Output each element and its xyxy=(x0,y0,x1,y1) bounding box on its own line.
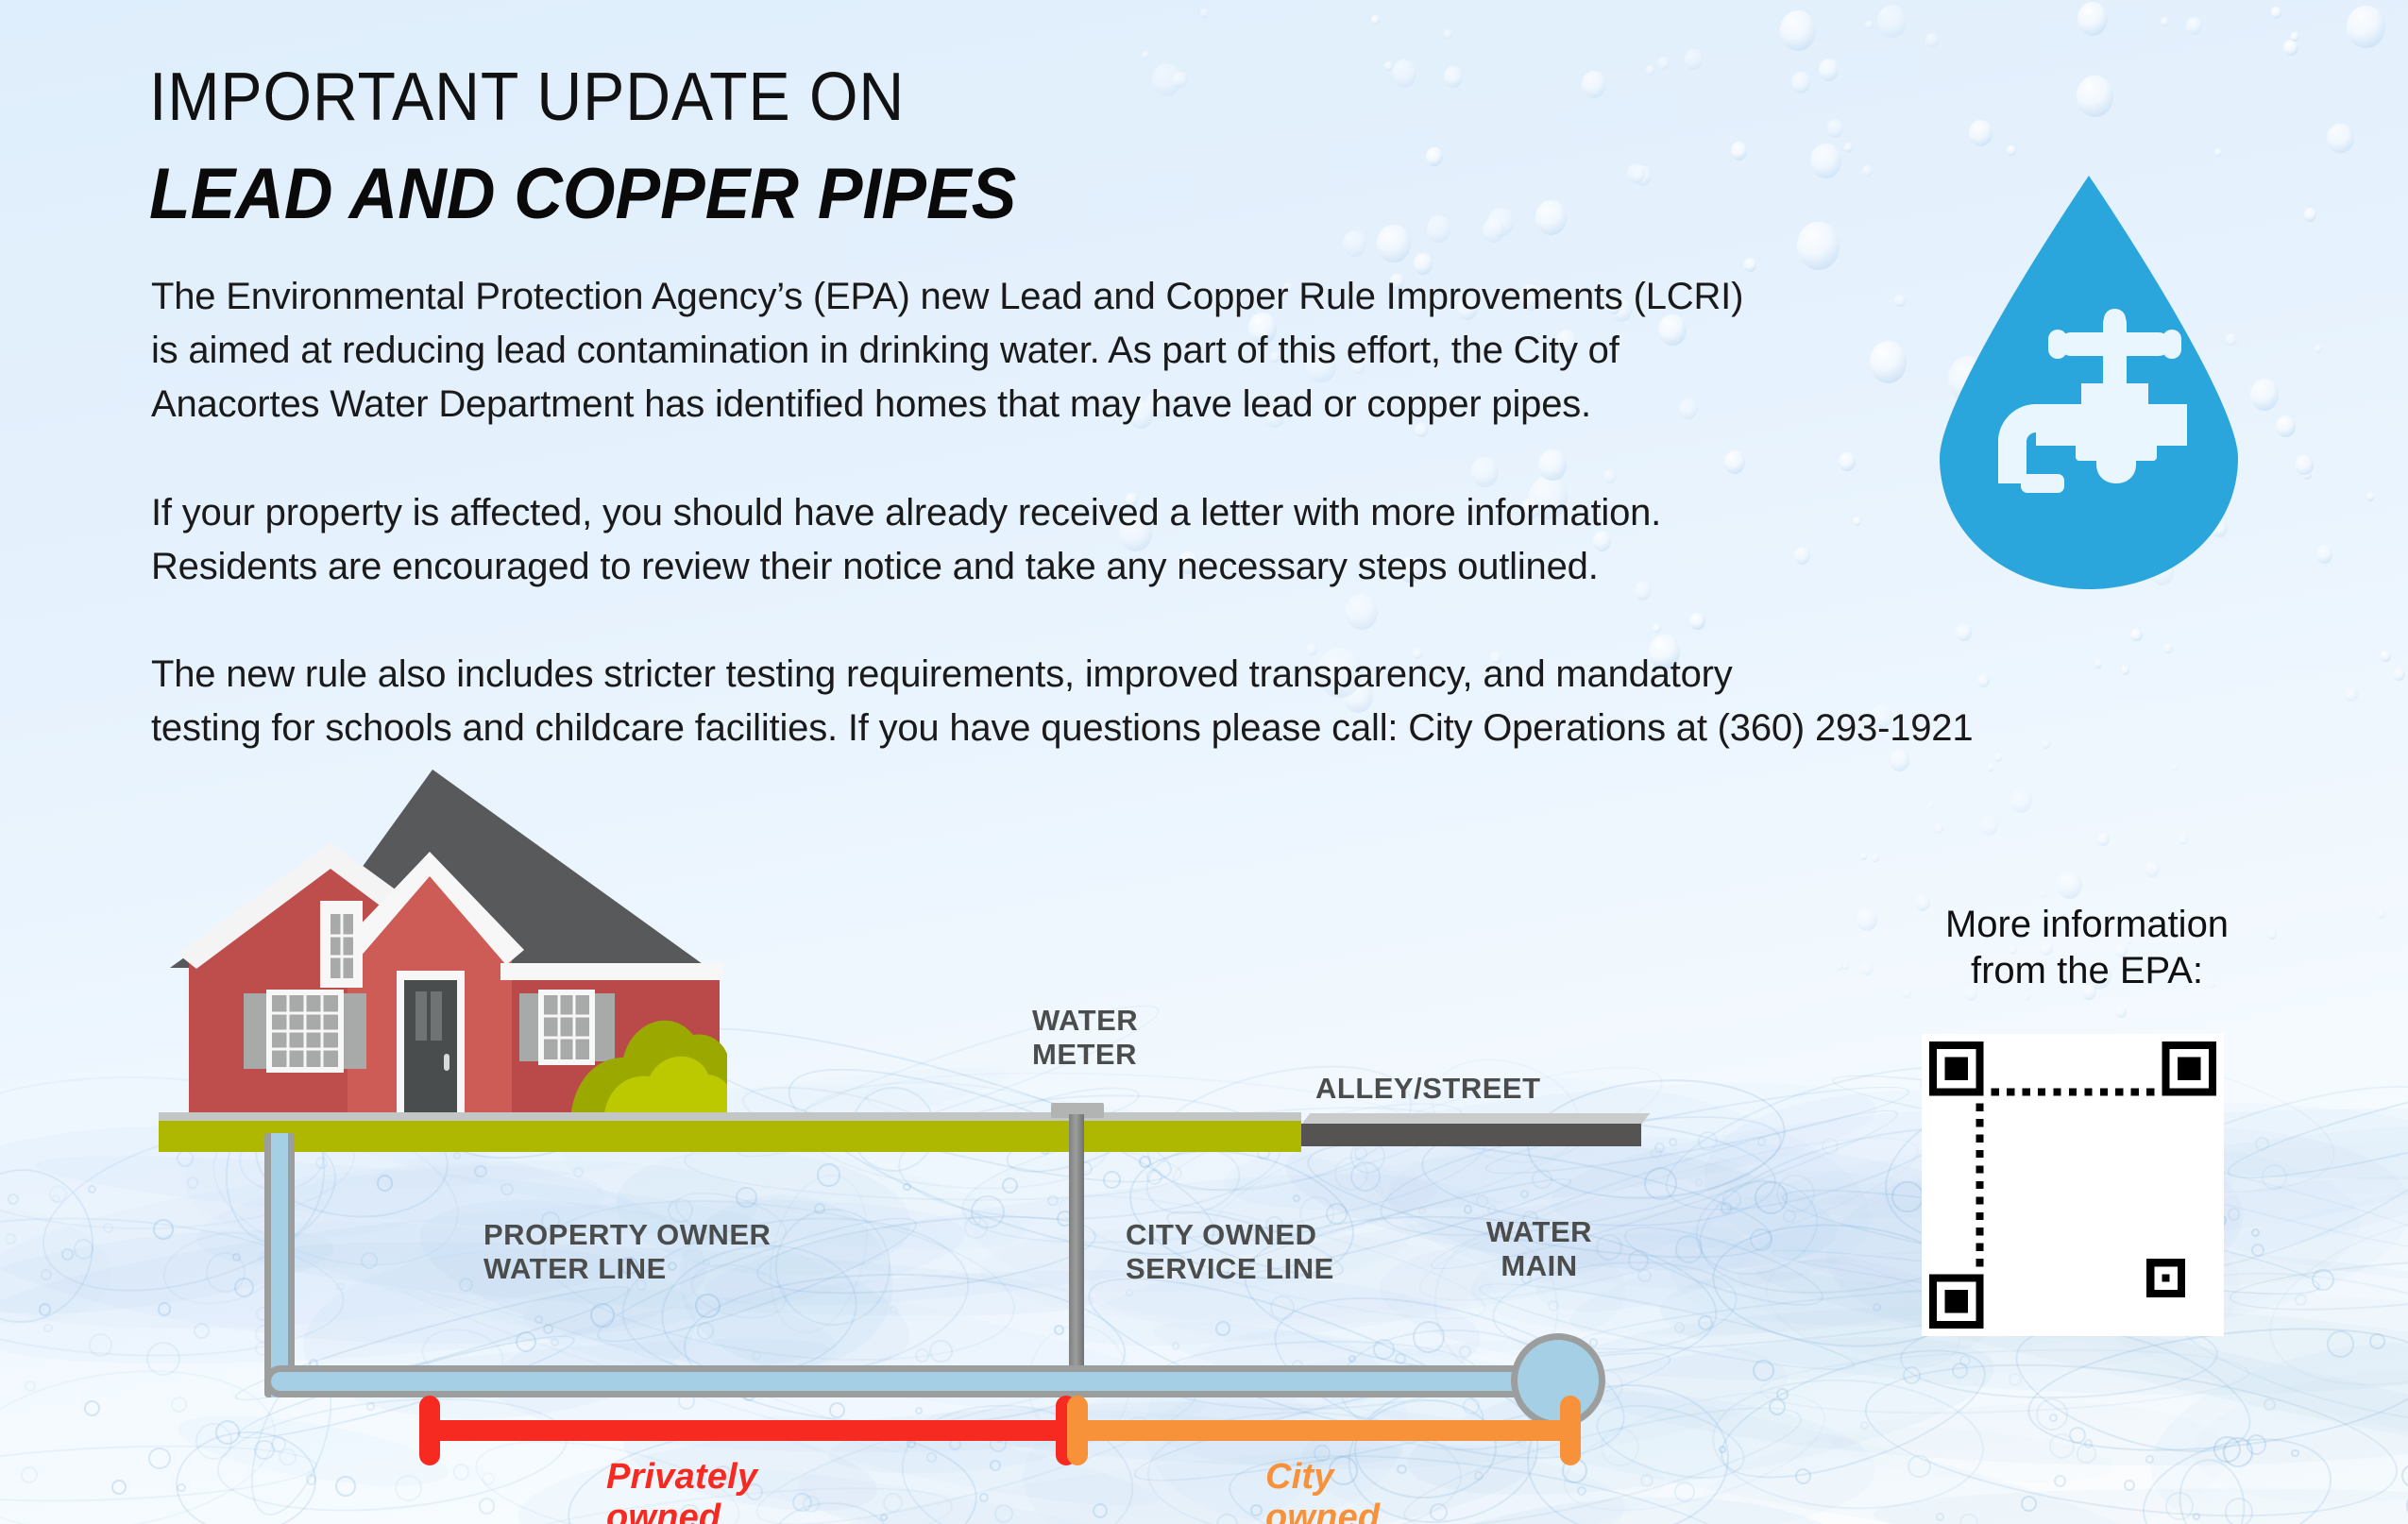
bubble xyxy=(2250,379,2279,411)
alley-street-bar xyxy=(1301,1124,1641,1146)
bubble xyxy=(2295,455,2313,476)
bubble xyxy=(1657,57,1670,70)
bubble xyxy=(2345,687,2358,703)
legend-label-city-owned: City owned xyxy=(1265,1457,1380,1524)
water-droplet xyxy=(2312,1269,2333,1291)
pipe-vertical xyxy=(271,1133,288,1397)
bubble xyxy=(2171,762,2179,770)
bubble xyxy=(1744,258,1756,272)
bubble xyxy=(2094,659,2103,669)
water-droplet xyxy=(2124,1480,2135,1491)
water-droplet xyxy=(1891,1181,1923,1212)
bubble xyxy=(2161,17,2169,26)
water-droplet xyxy=(2021,1496,2037,1512)
water-droplet xyxy=(1750,1228,1772,1251)
bubble xyxy=(1444,29,1452,39)
water-main-pipe xyxy=(1518,1340,1599,1421)
bubble xyxy=(2276,415,2296,437)
water-droplet xyxy=(2049,1414,2058,1422)
water-droplet-faucet-icon xyxy=(1938,170,2240,595)
bubble xyxy=(1977,674,1990,687)
bubble xyxy=(1797,222,1840,270)
service-line-diagram: WATER METER ALLEY/STREET PROPERTY OWNER … xyxy=(0,755,1700,1511)
water-droplet xyxy=(1873,1303,1881,1312)
water-arc xyxy=(2172,1453,2251,1524)
bubble xyxy=(1969,120,1993,146)
water-droplet xyxy=(1776,1175,1814,1212)
water-droplet xyxy=(2193,1513,2201,1521)
water-meter-stem xyxy=(1069,1114,1084,1388)
water-droplet xyxy=(1952,1363,1968,1379)
bubble xyxy=(1894,295,1906,307)
body-paragraph-3: The new rule also includes stricter test… xyxy=(151,648,1973,755)
house-illustration xyxy=(161,765,727,1133)
bubble xyxy=(2366,492,2374,500)
water-droplet xyxy=(1822,1138,1839,1155)
water-droplet xyxy=(2069,1427,2086,1444)
water-droplet xyxy=(2247,1434,2266,1454)
water-wave xyxy=(1678,1375,2238,1524)
bubble xyxy=(2077,2,2108,36)
water-droplet xyxy=(2049,1433,2076,1460)
water-droplet xyxy=(2225,1498,2254,1524)
water-arc xyxy=(1758,1342,2250,1422)
bubble xyxy=(1842,963,1848,970)
water-droplet xyxy=(2327,1330,2354,1358)
bubble xyxy=(1839,452,1856,471)
bubble xyxy=(2214,148,2222,157)
water-droplet xyxy=(1860,1421,1869,1430)
water-droplet xyxy=(2295,1294,2308,1307)
bubble xyxy=(1860,853,1867,859)
water-droplet xyxy=(1959,1514,1977,1524)
water-droplet xyxy=(2264,1398,2276,1411)
water-droplet xyxy=(1755,1181,1789,1215)
more-info-caption: More information from the EPA: xyxy=(1851,902,2323,994)
bubble xyxy=(1819,59,1839,81)
water-droplet xyxy=(2228,1208,2240,1220)
bubble xyxy=(1844,143,1853,153)
bubble xyxy=(1535,200,1567,235)
qr-code-icon[interactable] xyxy=(1922,1034,2224,1336)
water-arc xyxy=(1709,1373,1987,1516)
water-droplet xyxy=(1795,1468,1811,1484)
bubble xyxy=(1810,144,1841,178)
water-droplet xyxy=(2223,1437,2253,1467)
bubble xyxy=(1538,449,1567,482)
water-droplet xyxy=(2165,1492,2194,1520)
bubble xyxy=(1685,49,1703,69)
legend-cap-right-orange xyxy=(1560,1396,1581,1465)
bubble xyxy=(2347,6,2384,48)
water-wave xyxy=(2187,1352,2408,1520)
water-arc xyxy=(1857,1339,2406,1524)
bubble xyxy=(1994,754,2003,763)
label-water-meter: WATER METER xyxy=(1032,1004,1136,1072)
bubble xyxy=(2381,651,2391,662)
water-arc xyxy=(2131,1421,2343,1524)
water-droplet xyxy=(1216,1514,1239,1524)
headline-line-1: IMPORTANT UPDATE ON xyxy=(149,59,905,136)
pipe-horizontal xyxy=(271,1372,1565,1391)
label-city-owned-line: CITY OWNED SERVICE LINE xyxy=(1126,1218,1334,1286)
water-droplet xyxy=(1903,1366,1922,1385)
bubble xyxy=(1444,66,1464,88)
bubble xyxy=(1471,457,1499,487)
bubble xyxy=(1928,802,1935,808)
bubble xyxy=(1853,516,1861,526)
water-wave xyxy=(1830,1418,2117,1492)
bubble xyxy=(1689,613,1704,630)
legend-bar-orange xyxy=(1075,1420,1575,1441)
bubble xyxy=(1862,165,1873,177)
water-droplet xyxy=(1698,1131,1718,1151)
bubble xyxy=(2040,890,2045,897)
bubble xyxy=(1346,594,1378,630)
bubble xyxy=(1483,218,1504,243)
water-droplet xyxy=(2369,1333,2385,1349)
bubble xyxy=(1627,163,1645,183)
water-droplet xyxy=(2077,1444,2095,1463)
water-droplet xyxy=(2084,1439,2093,1448)
water-droplet xyxy=(1722,1190,1741,1209)
bubble xyxy=(2057,871,2082,899)
water-wave xyxy=(2136,1314,2408,1524)
bubble xyxy=(1980,815,1998,835)
bubble xyxy=(2121,666,2129,675)
water-droplet xyxy=(2255,1137,2269,1151)
bubble xyxy=(1865,21,1873,29)
water-droplet xyxy=(1769,1398,1786,1415)
bubble xyxy=(2304,208,2317,222)
bubble xyxy=(2115,1006,2127,1018)
bubble xyxy=(2186,17,2202,35)
bubble xyxy=(1653,624,1660,633)
bubble xyxy=(1988,764,1994,770)
bubble xyxy=(2291,32,2299,42)
water-droplet xyxy=(2251,1244,2264,1257)
bubble xyxy=(1836,963,1842,971)
body-paragraph-2: If your property is affected, you should… xyxy=(151,486,1661,594)
bubble xyxy=(1646,65,1655,76)
label-property-owner-line: PROPERTY OWNER WATER LINE xyxy=(483,1218,771,1286)
water-droplet xyxy=(1698,1315,1713,1330)
bubble xyxy=(1870,341,1908,382)
bubble xyxy=(1934,823,1943,834)
water-droplet xyxy=(1719,1446,1726,1453)
poster-canvas: IMPORTANT UPDATE ON LEAD AND COPPER PIPE… xyxy=(0,0,2408,1524)
water-arc xyxy=(2221,1044,2408,1197)
bubble xyxy=(2315,345,2322,353)
water-droplet xyxy=(2291,1449,2299,1458)
bubble xyxy=(1780,10,1817,51)
bubble xyxy=(2097,833,2110,847)
water-droplet xyxy=(1908,1455,1931,1479)
bubble xyxy=(1731,142,1748,161)
water-droplet xyxy=(880,1514,888,1521)
bubble xyxy=(1384,61,1392,70)
bubble xyxy=(1392,59,1416,88)
bubble xyxy=(1956,624,1971,641)
water-droplet xyxy=(1783,1210,1796,1223)
bubble xyxy=(1827,119,1843,137)
bubble xyxy=(1872,854,1879,862)
water-arc xyxy=(1706,1324,2001,1505)
water-wave xyxy=(1874,1480,2408,1524)
water-droplet xyxy=(1721,1202,1733,1214)
bubble xyxy=(1724,450,1745,474)
bubble xyxy=(2327,124,2353,154)
water-droplet xyxy=(1753,1360,1774,1381)
water-droplet xyxy=(2262,1164,2287,1190)
bubble xyxy=(2130,629,2142,642)
water-droplet xyxy=(1776,1388,1789,1400)
water-droplet xyxy=(1936,1513,1944,1521)
water-droplet xyxy=(2145,1455,2154,1464)
water-droplet xyxy=(2009,1373,2022,1386)
water-droplet xyxy=(1757,1137,1767,1146)
bubble xyxy=(2393,668,2405,681)
bubble xyxy=(1794,547,1810,565)
lawn-strip xyxy=(159,1121,1301,1152)
bubble xyxy=(2010,788,2033,813)
bubble xyxy=(1925,33,1939,47)
bubble xyxy=(2178,833,2189,845)
water-droplet xyxy=(2036,1398,2068,1431)
bubble xyxy=(1200,8,1209,18)
bubble xyxy=(2145,861,2160,876)
water-arc xyxy=(2251,1183,2408,1415)
water-arc xyxy=(2228,1251,2408,1320)
label-alley-street: ALLEY/STREET xyxy=(1315,1072,1541,1106)
headline-line-2: LEAD AND COPPER PIPES xyxy=(149,153,1016,235)
water-droplet xyxy=(2251,1228,2260,1237)
water-droplet xyxy=(2054,1475,2066,1487)
water-arc xyxy=(1686,1167,1827,1287)
bubble xyxy=(1877,5,1907,38)
bubble xyxy=(1426,147,1443,166)
bubble xyxy=(1173,72,1187,88)
bubble xyxy=(2042,739,2050,749)
bubble xyxy=(2271,7,2282,19)
bubble xyxy=(1343,230,1366,256)
bubble xyxy=(2283,40,2298,56)
legend-bar-red xyxy=(427,1420,1069,1441)
bubble xyxy=(2377,909,2385,919)
bubble xyxy=(2316,545,2333,564)
legend-label-privately-owned: Privately owned xyxy=(606,1457,757,1524)
bubble xyxy=(1142,51,1149,59)
bubble xyxy=(1427,215,1450,242)
bubble xyxy=(1791,72,1810,93)
bubble xyxy=(1371,15,1380,25)
bubble xyxy=(1603,469,1617,483)
bubble xyxy=(2007,145,2015,156)
bubble xyxy=(1377,225,1411,262)
label-water-main: WATER MAIN xyxy=(1478,1215,1601,1283)
body-paragraph-1: The Environmental Protection Agency’s (E… xyxy=(151,270,1743,432)
bubble xyxy=(2163,643,2173,653)
water-droplet xyxy=(2213,1436,2240,1463)
water-droplet xyxy=(1959,1355,1971,1366)
bubble xyxy=(2077,76,2113,116)
bubble xyxy=(1582,71,1606,98)
water-droplet xyxy=(2401,1465,2408,1487)
